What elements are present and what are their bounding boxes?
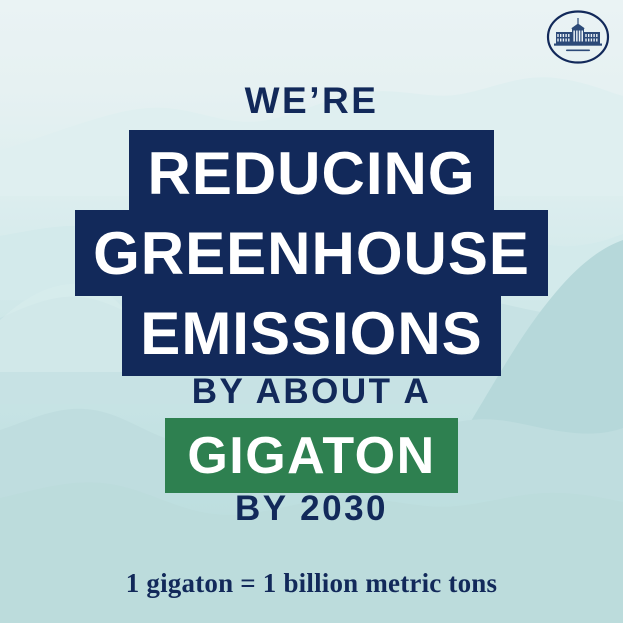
headline-line-greenhouse-row: GREENHOUSE	[0, 210, 623, 296]
headline-line-gigaton-row: GIGATON	[0, 418, 623, 493]
headline-line-emissions-row: EMISSIONS	[0, 290, 623, 376]
headline-line-by-about-a: BY ABOUT A	[0, 374, 623, 409]
headline-line-reducing: REDUCING	[129, 130, 493, 216]
headline-stack: WE’RE REDUCING GREENHOUSE EMISSIONS BY A…	[0, 0, 623, 623]
headline-line-greenhouse: GREENHOUSE	[75, 210, 548, 296]
footnote-text: 1 gigaton = 1 billion metric tons	[0, 568, 623, 599]
headline-line-were: WE’RE	[0, 82, 623, 119]
infographic-poster: WE’RE REDUCING GREENHOUSE EMISSIONS BY A…	[0, 0, 623, 623]
headline-line-reducing-row: REDUCING	[0, 130, 623, 216]
headline-line-gigaton: GIGATON	[165, 418, 457, 493]
headline-line-emissions: EMISSIONS	[122, 290, 500, 376]
headline-line-by-2030: BY 2030	[0, 491, 623, 526]
